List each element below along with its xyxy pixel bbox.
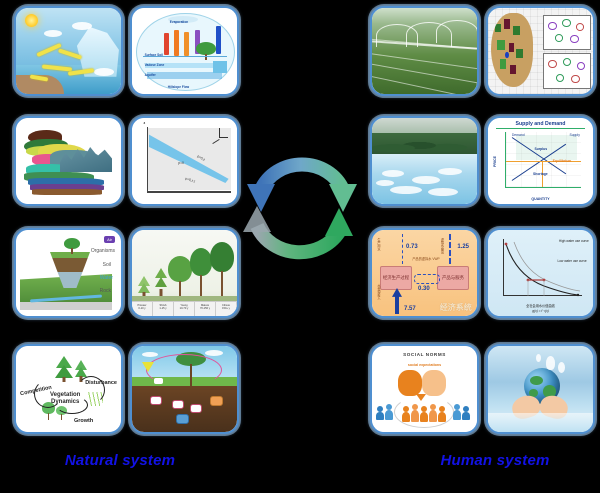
value-inflow: 0.73 xyxy=(406,244,418,250)
label-shortage: Shortage xyxy=(533,172,548,176)
axis-note-left-2: 水资源投入 xyxy=(376,284,380,300)
flux-arrow-red xyxy=(164,33,169,55)
landuse-cell xyxy=(495,24,502,33)
cloud-icon xyxy=(44,30,62,37)
sprinkler-spray xyxy=(436,20,477,43)
label-rock: Rock xyxy=(100,288,111,294)
axis-label-y: PRICE xyxy=(493,156,497,167)
foam xyxy=(382,170,404,177)
nutrient-node xyxy=(210,396,223,406)
panel-energy-water-flux: Evaporation Hillslope Flow Surface Soil … xyxy=(130,6,239,96)
flow-arrow-dashed xyxy=(414,274,440,284)
flux-arrow-orange xyxy=(174,30,179,56)
label-high-water-use-curve: High water use curve xyxy=(559,239,589,243)
flux-label: Hillslope Flow xyxy=(168,85,189,89)
axis-label-z: z xyxy=(144,121,146,125)
tree-icon xyxy=(196,42,216,60)
panel-critical-zone: Air Organisms Soil Water Rock xyxy=(14,228,123,318)
flux-label: Aquifer xyxy=(145,73,156,77)
landuse-map xyxy=(491,13,533,87)
tree-icon xyxy=(190,248,212,298)
label-demand: Demand xyxy=(512,133,525,137)
chart-caption: 全社会用水价值曲线 xyxy=(488,303,593,308)
tree-icon xyxy=(210,242,234,298)
cloud-icon xyxy=(205,350,223,356)
block-side xyxy=(20,302,112,310)
value-outflow: 1.25 xyxy=(457,244,469,250)
inflow-dashed-line xyxy=(402,234,403,264)
stage-caption: Pioneer0-10 y xyxy=(132,302,153,316)
box-products-services: 产品与服务 xyxy=(437,266,469,290)
panel-water-use-curve: High water use curve Low water use curve… xyxy=(486,228,595,318)
center-feedback-cycle xyxy=(243,128,361,313)
panel-river-photo xyxy=(370,116,479,206)
flux-label: Surface Soil xyxy=(145,53,163,57)
label-water: Water xyxy=(100,275,113,281)
flux-arrow-orange xyxy=(184,32,189,56)
succession-stage-strip: Pioneer0-10 y Shrub1-15 y Young10-70 y M… xyxy=(132,301,237,316)
foam xyxy=(428,188,458,196)
label-supply: Supply xyxy=(570,133,580,137)
panel-water-cycle xyxy=(14,6,123,96)
panel-water-stewardship xyxy=(486,344,595,434)
nutrient-node xyxy=(172,400,184,409)
sun-icon xyxy=(25,14,38,27)
cloud-icon xyxy=(72,22,92,30)
landuse-cell xyxy=(516,49,523,58)
flux-label: Evaporation xyxy=(170,20,188,24)
label-growth: Growth xyxy=(74,418,93,424)
speech-bubble-right xyxy=(422,370,446,396)
groundwater-zone xyxy=(147,72,223,79)
watermark-economic-system: 经济系统 xyxy=(440,302,472,313)
z-axis xyxy=(147,127,149,192)
caption-human-system: Human system xyxy=(385,452,600,469)
x-axis xyxy=(147,191,231,193)
landuse-cell xyxy=(510,65,516,74)
label-organisms: Organisms xyxy=(91,248,115,254)
flux-arrow-blue xyxy=(216,26,221,54)
axis-note-left: 生产用水 xyxy=(376,238,380,251)
soil-profile xyxy=(132,386,237,432)
top-arc-arrow xyxy=(247,165,357,212)
axis-note-right: 虚拟水输出 xyxy=(439,238,443,254)
panel-economic-system: 经济生产过程 产品与服务 0.73 1.25 0.30 7.57 产品的虚拟水 … xyxy=(370,228,479,318)
air-badge: Air xyxy=(104,236,115,243)
foam xyxy=(412,176,440,184)
crowd-right xyxy=(453,402,473,420)
landuse-cell xyxy=(513,26,520,35)
axis-label-x: QUANTITY xyxy=(488,197,593,201)
nutrient-node xyxy=(190,404,202,413)
pressure-label: p=0 xyxy=(178,161,184,165)
cloud-icon xyxy=(142,352,158,357)
speech-bubble-left xyxy=(398,370,422,396)
axis-triad-icon xyxy=(211,128,229,144)
stream-channel xyxy=(213,61,227,73)
tree-icon xyxy=(64,238,80,254)
water-splash xyxy=(536,354,541,362)
panel-forest-succession: Pioneer0-10 y Shrub1-15 y Young10-70 y M… xyxy=(130,228,239,318)
nutrient-node xyxy=(176,414,189,424)
label-surplus: Surplus xyxy=(535,147,548,151)
landuse-cell xyxy=(500,59,507,69)
outflow-dashed-line xyxy=(449,234,451,264)
foam xyxy=(438,168,462,175)
label-virtual-water-product: 产品的虚拟水 VWP xyxy=(412,258,440,262)
panel-geologic-block-model xyxy=(14,116,123,206)
tree-icon xyxy=(138,276,150,298)
value-water-input: 7.57 xyxy=(404,306,416,312)
flux-label: Vadose Zone xyxy=(145,63,165,67)
social-norms-subtitle: social expectations xyxy=(372,363,477,367)
value-virtual-water: 0.30 xyxy=(418,286,430,292)
label-equilibrium: Equilibrium xyxy=(553,159,572,163)
tree-icon xyxy=(56,356,72,382)
label-soil: Soil xyxy=(103,262,111,268)
geo-layer xyxy=(32,189,102,195)
outlet-marker xyxy=(505,52,508,58)
box-production-process: 经济生产过程 xyxy=(380,266,412,290)
cycle-arrow xyxy=(56,396,88,414)
stage-caption: Mature70-150 y xyxy=(195,302,216,316)
continent xyxy=(530,376,542,385)
figure-canvas: Evaporation Hillslope Flow Surface Soil … xyxy=(0,0,600,493)
landuse-cell xyxy=(509,43,514,52)
stage-caption: Climax150+ y xyxy=(216,302,237,316)
panel-vegetation-dynamics: Competition Disturbance VegetationDynami… xyxy=(14,344,123,434)
crowd-center xyxy=(402,400,448,422)
panel-supply-demand: Supply and Demand Demand Supply Surplus … xyxy=(486,116,595,206)
landuse-cell xyxy=(504,19,510,29)
tree-icon xyxy=(168,256,192,298)
cloud-icon xyxy=(94,68,114,76)
water-splash xyxy=(546,356,555,370)
social-norms-title: SOCIAL NORMS xyxy=(372,352,477,357)
chart-plot-area: Demand Supply Surplus Shortage Equilibri… xyxy=(505,132,582,188)
tree-icon xyxy=(154,268,168,298)
water-splash xyxy=(558,362,565,373)
foam xyxy=(376,180,394,186)
landuse-cell xyxy=(497,40,505,50)
livestock-icon xyxy=(154,378,163,384)
label-low-water-use-curve: Low water use curve xyxy=(557,259,586,263)
panel-social-norms: SOCIAL NORMS social expectations xyxy=(370,344,479,434)
sun-ray-icon xyxy=(142,362,154,372)
foam xyxy=(390,186,422,194)
water-surface xyxy=(488,413,593,432)
chart-formula: g(x) = f⁻¹(x) xyxy=(488,309,593,313)
panel-groundwater-cross-section: z p=0 p=0,z p=0,z,t xyxy=(130,116,239,206)
caption-natural-system: Natural system xyxy=(10,452,230,469)
bottom-arc-arrow xyxy=(243,206,353,252)
panel-nutrient-cycle xyxy=(130,344,239,434)
chart-title: Supply and Demand xyxy=(496,121,584,129)
crowd-left xyxy=(376,402,396,420)
panel-landuse-network xyxy=(486,6,595,96)
stage-caption: Shrub1-15 y xyxy=(153,302,174,316)
panel-irrigation-photo xyxy=(370,6,479,96)
nutrient-node xyxy=(150,396,162,405)
stage-caption: Young10-70 y xyxy=(174,302,195,316)
system-network-top xyxy=(543,15,591,50)
system-network-bottom xyxy=(543,53,591,89)
